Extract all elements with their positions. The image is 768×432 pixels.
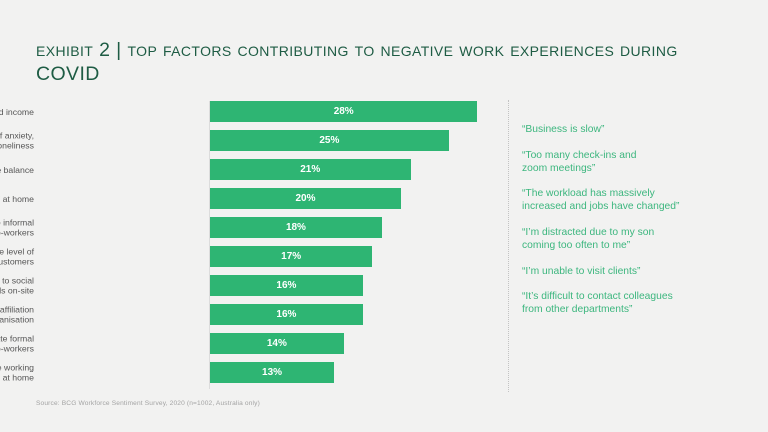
bar-row: Decreased income28%	[36, 101, 506, 122]
bar-track: 28%	[210, 101, 506, 122]
bar-row: Decreased work/life balance21%	[36, 159, 506, 180]
bar-value-label: 20%	[210, 188, 401, 209]
bar-value-label: 25%	[210, 130, 449, 151]
bar-value-label: 16%	[210, 275, 363, 296]
bar-row: Increased ‘distractions’ at home20%	[36, 188, 506, 209]
chart-title-emphasis: COVID	[36, 63, 100, 85]
bar-category-label: Decreased feeling of affiliation with yo…	[0, 304, 34, 325]
bar-category-label: Decreased work/life balance	[0, 164, 34, 174]
bar-value-label: 18%	[210, 217, 382, 238]
chart-title-prefix: Exhibit 2	[36, 39, 110, 61]
bar-track: 20%	[210, 188, 506, 209]
bar-row: Inadequate level of contact with clients…	[36, 246, 506, 267]
verbatim-quotes-panel: “Business is slow”“Too many check-ins an…	[522, 124, 740, 330]
bar-track: 21%	[210, 159, 506, 180]
bar-value-label: 14%	[210, 333, 344, 354]
bar-value-label: 17%	[210, 246, 372, 267]
verbatim-quote: “Too many check-ins and zoom meetings”	[522, 150, 740, 176]
panel-divider	[508, 100, 509, 392]
verbatim-quote: “I’m distracted due to my son coming too…	[522, 227, 740, 253]
chart-title: Exhibit 2 | Top factors contributing to …	[36, 38, 726, 86]
bar-row: Disruptions due to social distancing/hyg…	[36, 275, 506, 296]
bar-category-label: Inadequate working space at home	[0, 362, 34, 383]
bar-value-label: 16%	[210, 304, 363, 325]
bar-category-label: Increased ‘distractions’ at home	[0, 193, 34, 203]
verbatim-quote: “The workload has massively increased an…	[522, 188, 740, 214]
bar-category-label: Inadequate formal contact with co-worker…	[0, 333, 34, 354]
bar-row: Feelings of anxiety, depression and/or l…	[36, 130, 506, 151]
bar-track: 17%	[210, 246, 506, 267]
bar-category-label: Inadequate informal contact with co-work…	[0, 217, 34, 238]
bar-track: 16%	[210, 304, 506, 325]
bar-row: Inadequate informal contact with co-work…	[36, 217, 506, 238]
bar-category-label: Disruptions due to social distancing/hyg…	[0, 275, 34, 296]
bar-value-label: 13%	[210, 362, 334, 383]
bar-value-label: 21%	[210, 159, 411, 180]
bar-row: Inadequate formal contact with co-worker…	[36, 333, 506, 354]
bar-chart: Decreased income28%Feelings of anxiety, …	[36, 101, 506, 386]
bar-track: 13%	[210, 362, 506, 383]
verbatim-quote: “Business is slow”	[522, 124, 740, 137]
page-title: Exhibit 2 | Top factors contributing to …	[36, 38, 726, 86]
verbatim-quote: “It’s difficult to contact colleagues fr…	[522, 291, 740, 317]
bar-row: Decreased feeling of affiliation with yo…	[36, 304, 506, 325]
bar-track: 16%	[210, 275, 506, 296]
bar-track: 25%	[210, 130, 506, 151]
chart-title-main: Top factors contributing to negative wor…	[127, 39, 677, 61]
bar-track: 14%	[210, 333, 506, 354]
bar-row: Inadequate working space at home13%	[36, 362, 506, 383]
bar-track: 18%	[210, 217, 506, 238]
bar-category-label: Decreased income	[0, 106, 34, 116]
verbatim-quote: “I’m unable to visit clients”	[522, 266, 740, 279]
bar-category-label: Inadequate level of contact with clients…	[0, 246, 34, 267]
source-note: Source: BCG Workforce Sentiment Survey, …	[36, 400, 260, 407]
bar-value-label: 28%	[210, 101, 477, 122]
chart-title-separator: |	[116, 39, 121, 61]
bar-category-label: Feelings of anxiety, depression and/or l…	[0, 130, 34, 151]
